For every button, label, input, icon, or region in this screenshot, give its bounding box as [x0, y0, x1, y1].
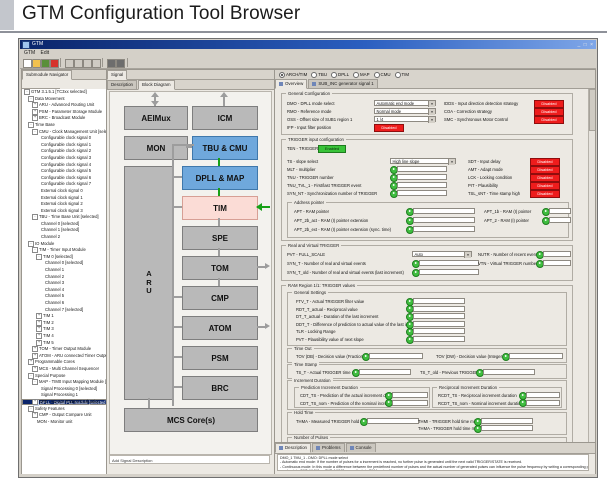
arrowhead-out-tom — [265, 263, 270, 269]
center-pane-tabstrip[interactable]: Signal — [107, 70, 274, 80]
tree-node-label: TIM - Timer Input Module — [39, 247, 86, 252]
tab-left-0[interactable]: Submodule Navigator — [22, 70, 72, 80]
build-icon[interactable] — [107, 59, 116, 68]
select-rmo[interactable]: Normal mode▾ — [374, 108, 436, 114]
tree-node-label: Data Movement — [35, 96, 65, 101]
group-title: Hold Time — [292, 410, 315, 415]
tree-node-label: Special Purpose — [35, 373, 66, 378]
module-radio-label: TIM — [402, 72, 410, 77]
redo-icon[interactable] — [92, 59, 101, 68]
tree-node[interactable]: Channel 3 — [22, 280, 106, 287]
tree-node[interactable]: -CMU - Clock Management Unit [selected] — [22, 129, 106, 136]
tree-node-label: ATOM - ARU connected Timer Output Module — [39, 353, 106, 358]
input-dt_t_actual[interactable] — [413, 313, 465, 319]
conn-psm — [172, 356, 182, 358]
tab-diagram-1[interactable]: Block Diagram — [138, 80, 175, 90]
toggle-value: Disabled — [537, 175, 552, 180]
tree-node[interactable]: +PSM - Parameter Storage Module — [22, 109, 106, 116]
block-label: PSM — [211, 354, 228, 363]
diagram-block-brc[interactable]: BRC — [182, 376, 258, 400]
tab-diagram-0[interactable]: Description — [107, 80, 137, 89]
menu-bar[interactable]: GTM Edit — [20, 49, 596, 57]
input-cdt_ts[interactable] — [392, 392, 428, 398]
tree-expander-icon[interactable]: + — [36, 333, 42, 339]
tree-node[interactable]: Channel 5 — [22, 293, 106, 300]
tab-diagram-label: Block Diagram — [142, 82, 171, 87]
select-value: Automatic end mode — [377, 101, 415, 106]
conn-tom-cmp — [218, 278, 220, 286]
tree-node-label: Channel 1 — [45, 267, 64, 272]
tree-node[interactable]: Channel 1 [selected] — [22, 227, 106, 234]
radio-icon[interactable] — [331, 72, 337, 78]
tree-node-label: MON - Monitor unit — [37, 419, 72, 424]
tree-expander-icon[interactable]: + — [32, 412, 38, 418]
module-radio-map[interactable]: MAP — [353, 70, 370, 79]
tree-node[interactable]: Configurable clock signal 7 — [22, 181, 106, 188]
field-label: COA - Correction strategy — [444, 109, 492, 115]
module-radio-tim[interactable]: TIM — [395, 70, 410, 79]
tree-node[interactable]: Configurable clock signal 1 — [22, 142, 106, 149]
group-reciprocal-increment-duration: Reciprocal Increment DurationRCDT_TS - R… — [432, 387, 562, 408]
tree-expander-icon[interactable]: + — [32, 109, 38, 115]
tree-expander-icon[interactable]: - — [32, 379, 38, 385]
diagram-block-aeimux[interactable]: AEIMux — [124, 106, 188, 130]
input-rcdt_ts_nom[interactable] — [526, 400, 560, 406]
tab-config-1[interactable]: SUB_INC generator signal 1 — [308, 79, 377, 88]
tree-node[interactable]: +ATOM - ARU connected Timer Output Modul… — [22, 353, 106, 360]
group-title: Number of Pulses — [292, 435, 330, 440]
group-title: Reciprocal Increment Duration — [437, 385, 499, 390]
tree-node[interactable]: +TIM 1 — [22, 313, 106, 320]
field-label: RMO - Reference mode — [287, 109, 331, 115]
radio-icon[interactable] — [311, 72, 317, 78]
input-apt_2[interactable] — [549, 217, 571, 223]
tree-node[interactable]: +TIM 3 — [22, 326, 106, 333]
tree-node[interactable]: Configurable clock signal 0 — [22, 135, 106, 142]
input-ftv_t[interactable] — [413, 298, 465, 304]
diagram-block-mon[interactable]: MON — [124, 136, 188, 160]
select-value: Normal mode — [377, 109, 402, 114]
toolbar-separator-2 — [102, 58, 103, 67]
diagram-block-tbu-cmu[interactable]: TBU & CMU — [192, 136, 258, 160]
input-nutr[interactable] — [543, 251, 571, 257]
toggle-value: Disabled — [541, 117, 556, 122]
window-titlebar: GTM _ □ × — [20, 40, 596, 49]
toggle-ten[interactable]: Enabled — [318, 145, 346, 153]
select-pvt[interactable]: Auto▾ — [412, 251, 472, 257]
signal-diagram-pane: Signal DescriptionBlock Diagram AEIMuxIC… — [106, 69, 275, 475]
tree-node[interactable]: +CMP - Output Compare Unit — [22, 412, 106, 419]
delete-icon[interactable] — [50, 59, 59, 68]
diagram-block-spe[interactable]: SPE — [182, 226, 258, 250]
tree-node-label: MCS - Multi Channel Sequencer — [39, 366, 99, 371]
input-ts_t_old[interactable] — [483, 369, 535, 375]
radio-icon[interactable] — [374, 72, 380, 78]
module-radio-tbu[interactable]: TBU — [311, 70, 327, 79]
tree-node-label: Configurable clock signal 5 — [41, 168, 91, 173]
field-label: APT_2b_act - RAM (I) pointer extension — [294, 218, 368, 224]
tree-expander-icon[interactable]: + — [32, 366, 38, 372]
input-pvt[interactable] — [413, 336, 465, 342]
tree-node-label: Time Base — [35, 122, 55, 127]
open-icon[interactable] — [32, 59, 41, 68]
tree-node-label: TIM 0 [selected] — [43, 254, 73, 259]
diagram-block-atom[interactable]: ATOM — [182, 316, 258, 340]
group-time-out: Time OutTOV (DB) - Decision value (Fract… — [287, 348, 567, 363]
conn-atom — [172, 326, 182, 328]
menu-item-gtm[interactable]: GTM — [24, 50, 35, 56]
tree-node[interactable]: Signal Processing 1 — [22, 392, 106, 399]
field-label: THMI - TRIGGER hold time min — [418, 419, 477, 425]
tree-node-label: Signal Processing 0 [selected] — [41, 386, 97, 391]
input-mlt[interactable] — [397, 166, 447, 172]
tree-node-label: Channel 1 [selected] — [41, 227, 79, 232]
tab-icon — [350, 446, 354, 450]
center-pane-subtabstrip[interactable]: DescriptionBlock Diagram — [107, 80, 274, 90]
field-label: CDT_TS - Prediction of the actual increm… — [300, 393, 398, 399]
conn-cmp — [172, 296, 182, 298]
toggle-value: Disabled — [537, 159, 552, 164]
group-trigger-input-configuration: TRIGGER input configurationTEN - TRIGGER… — [281, 139, 573, 241]
tree-node-label: Channel 2 — [41, 234, 60, 239]
tree-node[interactable]: Configurable clock signal 6 — [22, 175, 106, 182]
tab-config-label: Overview — [285, 81, 303, 86]
field-label: LCK - Locking condition — [468, 175, 512, 181]
chevron-down-icon[interactable]: ▾ — [428, 117, 435, 123]
toggle-smc[interactable]: Disabled — [534, 116, 564, 124]
tab-signal-0[interactable]: Signal — [107, 70, 127, 80]
chevron-down-icon[interactable]: ▾ — [448, 159, 455, 165]
diagram-block-icm[interactable]: ICM — [192, 106, 258, 130]
select-oss[interactable]: 1 /4▾ — [374, 116, 436, 122]
app-icon — [22, 41, 30, 49]
conn-mcs — [148, 398, 150, 408]
console-tabstrip[interactable]: DescriptionProblemsConsole — [275, 443, 595, 454]
select-dmo[interactable]: Automatic end mode▾ — [374, 100, 436, 106]
tree-node-label: IO Module — [35, 241, 54, 246]
tree-node[interactable]: -Special Purpose — [22, 373, 106, 380]
tree-node-label: TOM - Timer Output Module — [39, 346, 91, 351]
tab-signal-label: Signal — [111, 72, 123, 77]
tree-expander-icon[interactable]: - — [32, 214, 38, 220]
tree-expander-icon[interactable]: + — [32, 102, 38, 108]
field-label: FTV_T - Actual TRIGGER filter value — [296, 299, 364, 305]
input-tnu[interactable] — [397, 174, 447, 180]
tree-node[interactable]: -IO Module — [22, 241, 106, 248]
block-label: BRC — [211, 384, 228, 393]
green-link-dpll-tim — [218, 188, 220, 196]
tree-node[interactable]: Channel 7 [selected] — [22, 307, 106, 314]
tab-config-0[interactable]: Overview — [275, 79, 307, 89]
submodule-tree[interactable]: -GTM 3.1.5.1 [TC3xx selected]-Data Movem… — [22, 89, 106, 474]
block-label: TIM — [213, 204, 227, 213]
save-icon[interactable] — [41, 59, 50, 68]
field-label: SYN_NT - Synchronization number of TRIGG… — [287, 191, 377, 197]
undo-icon[interactable] — [83, 59, 92, 68]
input-apt[interactable] — [413, 208, 475, 214]
tree-node-label: Configurable clock signal 0 — [41, 135, 91, 140]
tab-icon — [312, 82, 316, 86]
input-syn_t_old[interactable] — [419, 269, 479, 275]
diagram-block-mcs-cores[interactable]: MCS Core(s) — [124, 408, 258, 432]
config-vertical-scrollbar[interactable] — [588, 89, 595, 442]
input-tov[interactable] — [369, 353, 423, 359]
field-label: THMA - Measured TRIGGER hold time — [296, 419, 368, 425]
field-label: SYN_T_old - Number of real and virtual e… — [287, 270, 404, 276]
tree-node[interactable]: -Time Base — [22, 122, 106, 129]
input-apt_1b[interactable] — [549, 208, 571, 214]
block-label: AEIMux — [141, 114, 170, 123]
input-apt_2b_ext[interactable] — [413, 226, 475, 232]
tree-expander-icon[interactable]: - — [32, 129, 38, 135]
tree-node-label: Configurable clock signal 7 — [41, 181, 91, 186]
tree-expander-icon[interactable]: + — [32, 399, 38, 405]
tree-node-label: TIM 1 — [43, 313, 54, 318]
tree-node-label: External clock signal 2 — [41, 201, 83, 206]
tree-node[interactable]: External clock signal 0 — [22, 188, 106, 195]
group-title: General Configuration — [286, 91, 332, 96]
field-label: APT_1b - RAM (I) pointer — [484, 209, 531, 215]
module-radio-arch/tim[interactable]: ARCH/TIM — [279, 70, 307, 79]
tree-expander-icon[interactable]: + — [36, 313, 42, 319]
input-vtn[interactable] — [543, 260, 571, 266]
field-label: PVT - FULL_SCALE — [287, 252, 325, 258]
tree-node[interactable]: +TIM 2 — [22, 320, 106, 327]
aru-bus-line — [172, 144, 174, 406]
field-label: TSL_sNT - Time stamp high — [468, 191, 520, 197]
slide-header: GTM Configuration Tool Browser — [0, 0, 607, 32]
tree-node[interactable]: -Data Movement — [22, 96, 106, 103]
tree-node[interactable]: Channel 4 — [22, 287, 106, 294]
chevron-down-icon[interactable]: ▾ — [428, 109, 435, 115]
tree-node[interactable]: Channel 2 — [22, 274, 106, 281]
tree-node[interactable]: Channel 0 [selected] — [22, 260, 106, 267]
field-label: APT_2 - RAM (I) pointer — [484, 218, 529, 224]
diagram-block-psm[interactable]: PSM — [182, 346, 258, 370]
config-tabstrip[interactable]: OverviewSUB_INC generator signal 1 — [275, 79, 595, 89]
input-tnu_tvl_1[interactable] — [397, 182, 447, 188]
group-general-settings: General SettingsFTV_T - Actual TRIGGER f… — [287, 292, 567, 346]
toolbar[interactable] — [20, 57, 596, 69]
tab-console-1[interactable]: Problems — [312, 443, 345, 452]
field-label: MLT - multiplier — [287, 167, 315, 173]
tab-icon — [279, 82, 283, 86]
new-icon[interactable] — [23, 59, 32, 68]
diagram-block-tim[interactable]: TIM — [182, 196, 258, 220]
tree-node[interactable]: Channel 2 — [22, 234, 106, 241]
tree-node-label: Configurable clock signal 3 — [41, 155, 91, 160]
field-label: SYN_T - Number of real and virtual event… — [287, 261, 366, 267]
input-thma[interactable] — [481, 425, 533, 431]
tree-node[interactable]: External clock signal 2 — [22, 201, 106, 208]
input-rcdt_ts[interactable] — [526, 392, 560, 398]
field-label: TNU - TRIGGER number — [287, 175, 334, 181]
chevron-down-icon[interactable]: ▾ — [464, 252, 471, 258]
select-ts[interactable]: High line slope▾ — [390, 158, 456, 164]
tree-node[interactable]: +TOM - Timer Output Module — [22, 346, 106, 353]
arrowhead-out-atom — [265, 323, 270, 329]
tree-expander-icon[interactable]: + — [32, 115, 38, 121]
group-real-virtual-trigger: Real and Virtual TRIGGERPVT - FULL_SCALE… — [281, 245, 573, 281]
tab-console-0[interactable]: Description — [275, 443, 311, 453]
tree-node-label: PSM - Parameter Storage Module — [39, 109, 102, 114]
tree-node[interactable]: -TIM - Timer Input Module — [22, 247, 106, 254]
tree-node-label: Channel 7 [selected] — [45, 307, 83, 312]
tree-expander-icon[interactable]: + — [28, 359, 34, 365]
tree-expander-icon[interactable]: + — [36, 320, 42, 326]
tree-expander-icon[interactable]: - — [28, 241, 34, 247]
tree-node[interactable]: External clock signal 1 — [22, 195, 106, 202]
tree-expander-icon[interactable]: - — [36, 254, 42, 260]
tree-node[interactable]: Signal Processing 0 [selected] — [22, 386, 106, 393]
console-pane: DescriptionProblemsConsole DMO_1 TMU_1 -… — [274, 442, 596, 475]
toggle-ifp[interactable]: Disabled — [374, 124, 404, 132]
tree-node[interactable]: +ARU - Advanced Routing Unit — [22, 102, 106, 109]
tree-node[interactable]: MON - Monitor unit — [22, 419, 106, 426]
input-tlr[interactable] — [413, 328, 465, 334]
field-label: APT_2b_ext - RAM (I) pointer extension (… — [294, 227, 391, 233]
input-thmi[interactable] — [481, 418, 533, 424]
tree-expander-icon[interactable]: + — [36, 340, 42, 346]
toggle-value: Enabled — [325, 146, 339, 151]
tree-node-label: Configurable clock signal 6 — [41, 175, 91, 180]
input-syn_t[interactable] — [419, 260, 479, 266]
tree-expander-icon[interactable]: + — [32, 353, 38, 359]
conn-spe-tom — [218, 248, 220, 256]
run-icon[interactable] — [116, 59, 125, 68]
module-radio-cmu[interactable]: CMU — [374, 70, 391, 79]
tree-node[interactable]: -TBU - Time Base Unit [selected] — [22, 214, 106, 221]
configuration-form: General ConfigurationDMO - DPLL mode sel… — [275, 89, 595, 442]
tree-expander-icon[interactable]: + — [36, 326, 42, 332]
input-thma[interactable] — [367, 418, 419, 424]
left-pane-tabstrip[interactable]: Submodule NavigatorSignal Explorer — [22, 70, 106, 80]
field-label: TEN - TRIGGER — [287, 146, 318, 152]
tree-node-label: BRC - Broadcast Module — [39, 115, 85, 120]
menu-item-edit[interactable]: Edit — [41, 50, 50, 56]
tree-node-label: Configurable clock signal 2 — [41, 148, 91, 153]
field-label: RCDT_TS - Reciprocal increment duration — [438, 393, 517, 399]
copy-icon[interactable] — [65, 59, 74, 68]
tree-expander-icon[interactable]: - — [28, 373, 34, 379]
tree-node[interactable]: Channel 1 — [22, 267, 106, 274]
tree-node[interactable]: +TIM 5 — [22, 340, 106, 347]
toggle-tsl_snt[interactable]: Disabled — [530, 190, 560, 198]
tree-node-label: SPE - Sensor Pattern Evaluation — [39, 399, 100, 404]
tree-node[interactable]: +TIM 4 — [22, 333, 106, 340]
toolbar-separator-1 — [60, 58, 61, 67]
tree-node[interactable]: +MCS - Multi Channel Sequencer — [22, 366, 106, 373]
field-label: DT_T_actual - Duration of the last incre… — [296, 314, 378, 320]
tree-node[interactable]: Configurable clock signal 4 — [22, 162, 106, 169]
tree-node[interactable]: Configurable clock signal 5 — [22, 168, 106, 175]
field-label: RCDT_TS_nom - Nominal increment duration — [438, 401, 523, 407]
tree-expander-icon[interactable]: - — [28, 96, 34, 102]
input-cdt_ts_nom[interactable] — [392, 400, 428, 406]
tree-expander-icon[interactable]: - — [28, 122, 34, 128]
chevron-down-icon[interactable]: ▾ — [428, 101, 435, 107]
tree-node-label: Channel 2 — [45, 274, 64, 279]
radio-icon[interactable] — [279, 72, 285, 78]
select-value: Auto — [415, 252, 423, 257]
tree-expander-icon[interactable]: - — [24, 89, 30, 95]
tab-config-label: SUB_INC generator signal 1 — [318, 81, 373, 86]
tree-node[interactable]: Configurable clock signal 3 — [22, 155, 106, 162]
tree-node-label: TIM 5 — [43, 340, 54, 345]
tree-node[interactable]: +Programmable Cores — [22, 359, 106, 366]
diagram-block-cmp[interactable]: CMP — [182, 286, 258, 310]
tree-expander-icon[interactable]: - — [32, 247, 38, 253]
conn-dpll — [172, 176, 182, 178]
tab-diagram-label: Description — [111, 82, 133, 87]
toggle-value: Disabled — [541, 101, 556, 106]
group-title: Time Stamp — [292, 362, 319, 367]
block-label: U — [146, 287, 151, 296]
input-rdt_t_actual[interactable] — [413, 306, 465, 312]
application-window: GTM _ □ × GTM Edit Submodule NavigatorSi… — [18, 38, 598, 478]
tree-node-label: CMP - Output Compare Unit — [39, 412, 92, 417]
group-title: RAM Region 1/1: TRIGGER values — [286, 283, 357, 288]
tree-node-label: ARU - Advanced Routing Unit — [39, 102, 94, 107]
diagram-block-dpll-map[interactable]: DPLL & MAP — [182, 166, 258, 190]
tree-node-label: Channel 6 — [45, 300, 64, 305]
scrollbar-thumb[interactable] — [589, 89, 596, 131]
tab-console-label: Problems — [322, 445, 341, 450]
tab-console-label: Description — [285, 445, 307, 450]
tree-expander-icon[interactable]: - — [28, 406, 34, 412]
tree-node-label: Channel 0 [selected] — [45, 260, 83, 265]
tree-node[interactable]: -TIM 0 [selected] — [22, 254, 106, 261]
tree-node[interactable]: Channel 0 [selected] — [22, 221, 106, 228]
tree-node[interactable]: External clock signal 3 — [22, 208, 106, 215]
tree-node[interactable]: Channel 6 — [22, 300, 106, 307]
tab-left-label: Submodule Navigator — [26, 72, 68, 77]
radio-icon[interactable] — [353, 72, 359, 78]
group-title: Real and Virtual TRIGGER — [286, 243, 341, 248]
field-label: DDT_T - Difference of prediction to actu… — [296, 322, 423, 328]
module-radio-dpll[interactable]: DPLL — [331, 70, 349, 79]
tree-node-label: TBU - Time Base Unit [selected] — [39, 214, 99, 219]
signal-description-input[interactable]: Add Signal Description — [109, 455, 270, 464]
tab-console-2[interactable]: Console — [346, 443, 376, 452]
input-tov[interactable] — [509, 353, 563, 359]
tree-node[interactable]: +SPE - Sensor Pattern Evaluation — [22, 399, 106, 406]
group-title: General Settings — [292, 290, 328, 295]
block-label: TBU & CMU — [203, 144, 248, 153]
tree-node-label: External clock signal 3 — [41, 208, 83, 213]
paste-icon[interactable] — [74, 59, 83, 68]
tree-node[interactable]: Configurable clock signal 2 — [22, 148, 106, 155]
tree-node[interactable]: -Safety Features — [22, 406, 106, 413]
field-label: PIT - Plausibility — [468, 183, 498, 189]
tree-node[interactable]: +BRC - Broadcast Module — [22, 115, 106, 122]
tree-node[interactable]: -GTM 3.1.5.1 [TC3xx selected] — [22, 89, 106, 96]
block-label: TOM — [211, 264, 229, 273]
diagram-block-tom[interactable]: TOM — [182, 256, 258, 280]
tree-node[interactable]: -MAP - TIM0 Input Mapping Module [select… — [22, 379, 106, 386]
input-apt_2b_act[interactable] — [413, 217, 475, 223]
input-syn_nt[interactable] — [397, 190, 447, 196]
diagram-block-aru[interactable]: ARU — [124, 166, 174, 400]
status-bar — [20, 474, 596, 476]
tree-expander-icon[interactable]: + — [32, 346, 38, 352]
input-ddt_t[interactable] — [413, 321, 465, 327]
radio-icon[interactable] — [395, 72, 401, 78]
input-ts_t[interactable] — [359, 369, 411, 375]
module-radio-label: DPLL — [338, 72, 349, 77]
group-prediction-increment-duration: Prediction Increment DurationCDT_TS - Pr… — [294, 387, 430, 408]
field-label: TS - slope select — [287, 159, 318, 165]
